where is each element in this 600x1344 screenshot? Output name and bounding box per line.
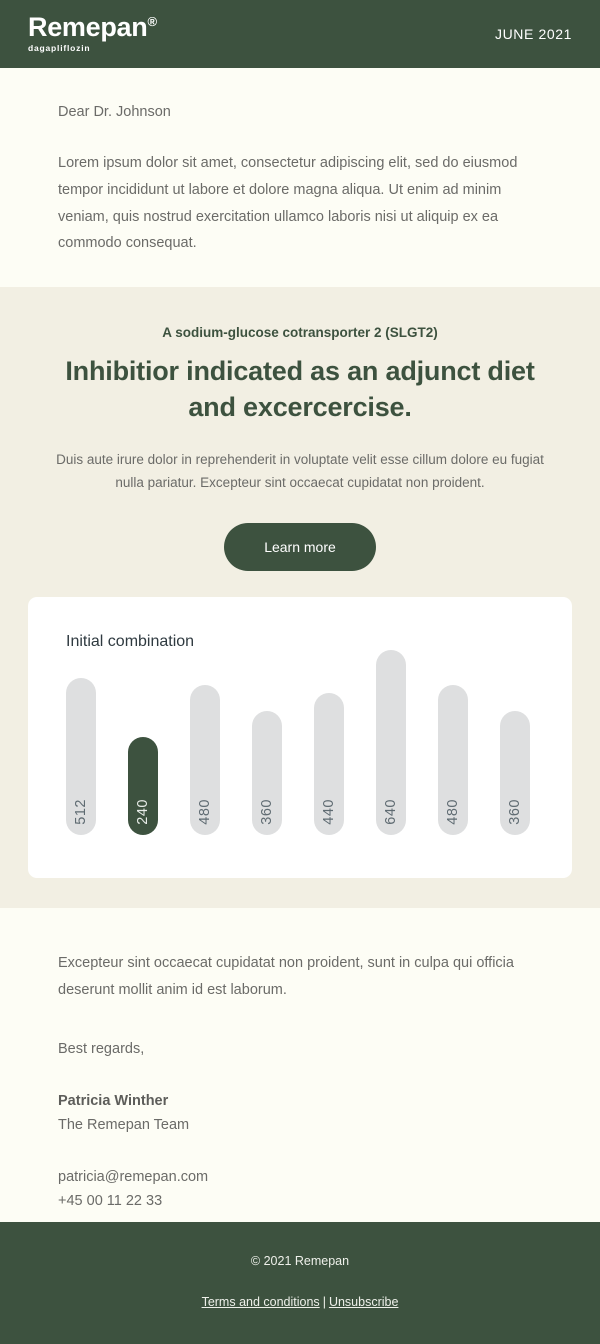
email-header: Remepan® dagapliflozin JUNE 2021 [0,0,600,68]
signature-team: The Remepan Team [58,1117,542,1133]
bar-value-label: 640 [383,799,399,825]
chart-title: Initial combination [66,633,572,651]
bar-5: 440 [314,693,344,835]
closing-section: Excepteur sint occaecat cupidatat non pr… [0,908,600,1210]
email-footer: © 2021 Remepan Terms and conditions|Unsu… [0,1222,600,1344]
learn-more-button[interactable]: Learn more [224,523,376,571]
brand-generic-name: dagapliflozin [28,43,157,53]
bar-value-label: 440 [321,799,337,825]
eyebrow-text: A sodium-glucose cotransporter 2 (SLGT2) [0,325,600,340]
bar-2: 240 [128,737,158,835]
copyright-text: © 2021 Remepan [0,1254,600,1268]
signature-phone: +45 00 11 22 33 [58,1193,542,1209]
bar-4: 360 [252,711,282,835]
bar-value-label: 512 [73,799,89,825]
bar-value-label: 360 [259,799,275,825]
bar-value-label: 360 [507,799,523,825]
signature-name: Patricia Winther [58,1093,542,1109]
greeting-text: Dear Dr. Johnson [58,104,542,120]
registered-trademark-icon: ® [147,14,156,29]
bar-7: 480 [438,685,468,835]
brand-name-text: Remepan [28,12,147,42]
brand-name: Remepan® [28,14,157,41]
closing-paragraph: Excepteur sint occaecat cupidatat non pr… [58,950,542,1004]
bar-value-label: 480 [445,799,461,825]
issue-date: JUNE 2021 [495,26,572,42]
bar-chart-plot-area: 512240480360440640480360 [66,650,530,835]
bar-6: 640 [376,650,406,835]
intro-paragraph: Lorem ipsum dolor sit amet, consectetur … [58,150,542,257]
signature-email[interactable]: patricia@remepan.com [58,1169,542,1185]
highlight-section: A sodium-glucose cotransporter 2 (SLGT2)… [0,287,600,908]
bar-value-label: 240 [135,799,151,825]
bar-8: 360 [500,711,530,835]
terms-and-conditions-link[interactable]: Terms and conditions [202,1295,320,1309]
cta-container: Learn more [0,523,600,571]
chart-card: Initial combination 51224048036044064048… [28,597,572,878]
intro-section: Dear Dr. Johnson Lorem ipsum dolor sit a… [0,68,600,287]
unsubscribe-link[interactable]: Unsubscribe [329,1295,398,1309]
bar-3: 480 [190,685,220,835]
regards-text: Best regards, [58,1041,542,1057]
bar-value-label: 480 [197,799,213,825]
highlight-subtext: Duis aute irure dolor in reprehenderit i… [43,448,558,495]
footer-link-separator: | [323,1295,326,1309]
bar-1: 512 [66,678,96,835]
footer-links: Terms and conditions|Unsubscribe [0,1295,600,1309]
headline-text: Inhibitior indicated as an adjunct diet … [50,354,550,425]
brand-lockup: Remepan® dagapliflozin [28,14,157,53]
